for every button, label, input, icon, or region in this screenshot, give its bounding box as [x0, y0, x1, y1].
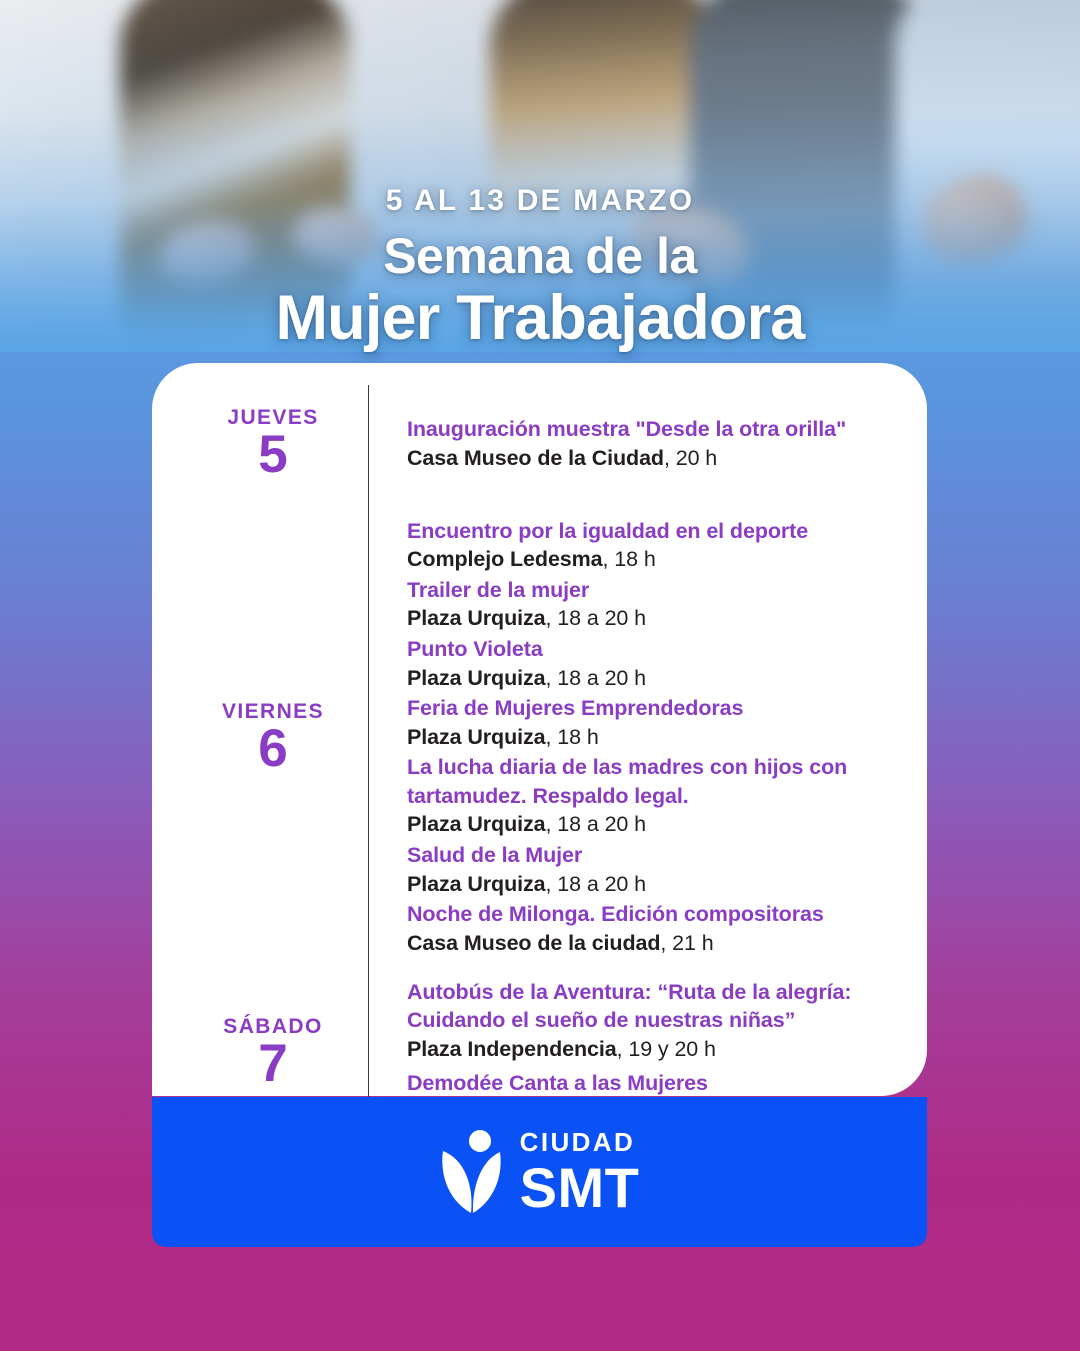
event-item: Encuentro por la igualdad en el deporteC…: [407, 517, 901, 574]
day-number: 5: [178, 427, 368, 483]
event-time: 21 h: [672, 931, 713, 955]
event-item: Trailer de la mujerPlaza Urquiza, 18 a 2…: [407, 576, 901, 633]
title-line-2: Mujer Trabajadora: [0, 283, 1080, 354]
brand-logo: CIUDAD SMT: [440, 1129, 640, 1216]
event-venue: Plaza Independencia: [407, 1037, 617, 1061]
title-block: 5 AL 13 DE MARZO Semana de la Mujer Trab…: [0, 186, 1080, 354]
event-venue: Plaza Urquiza: [407, 872, 546, 896]
event-item: Feria de Mujeres EmprendedorasPlaza Urqu…: [407, 694, 901, 751]
event-venue-time: Plaza Urquiza, 18 a 20 h: [407, 664, 901, 693]
event-title: Demodée Canta a las Mujeres: [407, 1069, 901, 1098]
day-label: VIERNES6: [178, 700, 368, 777]
title-line-1: Semana de la: [0, 230, 1080, 283]
event-title: Salud de la Mujer: [407, 841, 901, 870]
brand-logo-text: CIUDAD SMT: [520, 1129, 640, 1216]
event-time: 18 a 20 h: [557, 606, 646, 630]
event-item: Inauguración muestra "Desde la otra oril…: [407, 415, 901, 472]
event-list: Encuentro por la igualdad en el deporteC…: [369, 517, 927, 960]
day-number: 6: [178, 721, 368, 777]
event-venue-time: Plaza Urquiza, 18 a 20 h: [407, 604, 901, 633]
event-venue: Casa Museo de la ciudad: [407, 931, 660, 955]
event-venue: Casa Museo de la Ciudad: [407, 446, 664, 470]
event-venue-time: Plaza Urquiza, 18 h: [407, 723, 901, 752]
event-title: Noche de Milonga. Edición compositoras: [407, 900, 901, 929]
sprout-person-icon: [440, 1129, 502, 1215]
event-item: Autobús de la Aventura: “Ruta de la aleg…: [407, 978, 901, 1064]
event-title: Trailer de la mujer: [407, 576, 901, 605]
event-item: Punto VioletaPlaza Urquiza, 18 a 20 h: [407, 635, 901, 692]
day-row: JUEVES5Inauguración muestra "Desde la ot…: [152, 385, 927, 503]
event-venue-time: Casa Museo de la Ciudad, 20 h: [407, 444, 901, 473]
event-time: 18 a 20 h: [557, 872, 646, 896]
day-number: 7: [178, 1036, 368, 1092]
event-time: 18 h: [557, 725, 598, 749]
footer-bar: CIUDAD SMT: [152, 1097, 927, 1247]
event-item: Noche de Milonga. Edición compositorasCa…: [407, 900, 901, 957]
event-title: La lucha diaria de las madres con hijos …: [407, 753, 901, 810]
event-title: Feria de Mujeres Emprendedoras: [407, 694, 901, 723]
day-row: VIERNES6Encuentro por la igualdad en el …: [152, 503, 927, 973]
event-venue-time: Plaza Urquiza, 18 a 20 h: [407, 810, 901, 839]
poster-canvas: 5 AL 13 DE MARZO Semana de la Mujer Trab…: [0, 0, 1080, 1351]
event-venue: Plaza Urquiza: [407, 666, 546, 690]
brand-ciudad-label: CIUDAD: [520, 1129, 640, 1155]
event-venue: Plaza Urquiza: [407, 725, 546, 749]
event-title: Encuentro por la igualdad en el deporte: [407, 517, 901, 546]
event-venue: Complejo Ledesma: [407, 547, 603, 571]
brand-smt-label: SMT: [520, 1160, 640, 1216]
event-venue: Plaza Urquiza: [407, 812, 546, 836]
event-title: Inauguración muestra "Desde la otra oril…: [407, 415, 901, 444]
event-title: Autobús de la Aventura: “Ruta de la aleg…: [407, 978, 901, 1035]
event-time: 20 h: [676, 446, 717, 470]
day-label: SÁBADO7: [178, 1015, 368, 1092]
event-list: Inauguración muestra "Desde la otra oril…: [369, 413, 927, 474]
event-venue-time: Plaza Independencia, 19 y 20 h: [407, 1035, 901, 1064]
event-venue-time: Casa Museo de la ciudad, 21 h: [407, 929, 901, 958]
day-label: JUEVES5: [178, 406, 368, 483]
event-title: Punto Violeta: [407, 635, 901, 664]
event-time: 18 a 20 h: [557, 666, 646, 690]
event-item: Salud de la MujerPlaza Urquiza, 18 a 20 …: [407, 841, 901, 898]
event-time: 18 a 20 h: [557, 812, 646, 836]
event-venue-time: Complejo Ledesma, 18 h: [407, 545, 901, 574]
event-time: 19 y 20 h: [628, 1037, 716, 1061]
event-venue: Plaza Urquiza: [407, 606, 546, 630]
schedule-card: JUEVES5Inauguración muestra "Desde la ot…: [152, 363, 927, 1096]
event-item: La lucha diaria de las madres con hijos …: [407, 753, 901, 839]
event-venue-time: Plaza Urquiza, 18 a 20 h: [407, 870, 901, 899]
date-range-kicker: 5 AL 13 DE MARZO: [0, 186, 1080, 216]
event-time: 18 h: [614, 547, 655, 571]
